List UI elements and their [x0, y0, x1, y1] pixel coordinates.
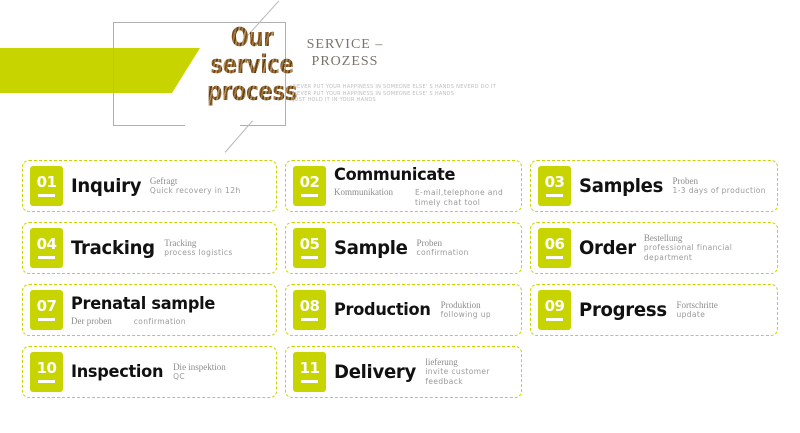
step-german-label: lieferung: [425, 357, 503, 367]
step-german-label: Kommunikation: [334, 187, 393, 197]
badge-underline: [546, 318, 563, 321]
step-english-label: confirmation: [134, 317, 186, 327]
process-step-grid: 01 Inquiry Gefragt Quick recovery in 12h…: [0, 160, 800, 408]
step-card-10[interactable]: 10 Inspection Die inspektion QC: [22, 346, 277, 398]
step-german-label: Tracking: [164, 238, 233, 248]
step-card-01[interactable]: 01 Inquiry Gefragt Quick recovery in 12h: [22, 160, 277, 212]
step-body: Communicate Kommunikation E-mail,telepho…: [326, 165, 521, 208]
badge-underline: [301, 256, 318, 259]
step-number: 02: [300, 175, 320, 190]
step-description: Der proben confirmation: [71, 316, 186, 327]
step-badge-05: 05: [293, 228, 326, 268]
step-description: Gefragt Quick recovery in 12h: [150, 176, 241, 196]
step-body: Progress Fortschritte update: [571, 300, 777, 321]
step-german-label: Fortschritte: [676, 300, 718, 310]
step-row-4: 10 Inspection Die inspektion QC 11 Deliv…: [0, 346, 800, 408]
step-german-label: Bestellung: [644, 233, 756, 243]
step-german-label: Proben: [673, 176, 766, 186]
badge-underline: [546, 256, 563, 259]
step-german-label: Gefragt: [150, 176, 241, 186]
step-badge-02: 02: [293, 166, 326, 206]
step-title: Sample: [334, 238, 408, 259]
step-english-label: professional financial department: [644, 243, 756, 263]
frame-gap-mask: [185, 120, 240, 128]
step-english-label: process logistics: [164, 248, 233, 258]
step-title: Tracking: [71, 238, 155, 259]
step-number: 05: [300, 237, 320, 252]
step-row-1: 01 Inquiry Gefragt Quick recovery in 12h…: [0, 160, 800, 222]
step-title: Communicate: [334, 165, 455, 186]
step-number: 03: [545, 175, 565, 190]
badge-underline: [546, 194, 563, 197]
step-badge-04: 04: [30, 228, 63, 268]
step-number: 09: [545, 299, 565, 314]
tagline-line-1: NEVER PUT YOUR HAPPINESS IN SOMEONE ELSE…: [293, 84, 496, 91]
step-body: Samples Proben 1-3 days of production: [571, 176, 777, 197]
step-badge-09: 09: [538, 290, 571, 330]
page-title-line-3: process: [207, 79, 297, 106]
step-number: 11: [300, 361, 320, 376]
step-title: Samples: [579, 176, 663, 197]
step-card-02[interactable]: 02 Communicate Kommunikation E-mail,tele…: [285, 160, 522, 212]
step-body: Inquiry Gefragt Quick recovery in 12h: [63, 176, 276, 197]
step-title: Production: [334, 300, 431, 321]
step-german-label: Produktion: [441, 300, 491, 310]
step-body: Production Produktion following up: [326, 300, 521, 321]
step-body: Inspection Die inspektion QC: [63, 362, 276, 383]
step-english-label: Quick recovery in 12h: [150, 186, 241, 196]
step-english-label: update: [676, 310, 718, 320]
badge-underline: [38, 380, 55, 383]
step-body: Delivery lieferung invite customer feedb…: [326, 357, 521, 387]
step-card-06[interactable]: 06 Order Bestellung professional financi…: [530, 222, 778, 274]
step-description: Produktion following up: [441, 300, 491, 320]
step-english-label: confirmation: [417, 248, 469, 258]
step-badge-08: 08: [293, 290, 326, 330]
step-card-05[interactable]: 05 Sample Proben confirmation: [285, 222, 522, 274]
step-english-label: E-mail,telephone and timely chat tool: [415, 188, 517, 208]
page-header: Our service process SERVICE – PROZESS NE…: [0, 0, 800, 150]
tagline-block: NEVER PUT YOUR HAPPINESS IN SOMEONE ELSE…: [293, 84, 496, 104]
step-german-label: Der proben: [71, 316, 112, 326]
step-number: 06: [545, 237, 565, 252]
step-description: Fortschritte update: [676, 300, 718, 320]
step-title: Order: [579, 238, 636, 259]
badge-underline: [301, 318, 318, 321]
step-card-04[interactable]: 04 Tracking Tracking process logistics: [22, 222, 277, 274]
badge-underline: [38, 318, 55, 321]
step-description: Die inspektion QC: [173, 362, 226, 382]
step-number: 07: [37, 299, 57, 314]
step-description: Tracking process logistics: [164, 238, 233, 258]
step-body: Tracking Tracking process logistics: [63, 238, 276, 259]
step-german-label: Die inspektion: [173, 362, 226, 372]
step-badge-07: 07: [30, 290, 63, 330]
step-title: Inquiry: [71, 176, 141, 197]
step-body: Prenatal sample Der proben confirmation: [63, 294, 276, 327]
step-row-2: 04 Tracking Tracking process logistics 0…: [0, 222, 800, 284]
step-card-03[interactable]: 03 Samples Proben 1-3 days of production: [530, 160, 778, 212]
step-badge-11: 11: [293, 352, 326, 392]
page-title-line-2: service: [207, 52, 297, 79]
step-badge-10: 10: [30, 352, 63, 392]
step-title: Delivery: [334, 362, 416, 383]
step-german-label: Proben: [417, 238, 469, 248]
step-number: 08: [300, 299, 320, 314]
step-badge-03: 03: [538, 166, 571, 206]
page-title: Our service process: [207, 25, 297, 106]
step-row-3: 07 Prenatal sample Der proben confirmati…: [0, 284, 800, 346]
step-description: Bestellung professional financial depart…: [644, 233, 756, 263]
step-description: Proben confirmation: [417, 238, 469, 258]
step-number: 04: [37, 237, 57, 252]
step-description: Proben 1-3 days of production: [673, 176, 766, 196]
step-body: Sample Proben confirmation: [326, 238, 521, 259]
page-subtitle: SERVICE – PROZESS: [290, 36, 400, 70]
step-title: Prenatal sample: [71, 294, 215, 315]
step-card-07[interactable]: 07 Prenatal sample Der proben confirmati…: [22, 284, 277, 336]
step-badge-01: 01: [30, 166, 63, 206]
badge-underline: [38, 194, 55, 197]
tagline-line-3: JUST HOLD IT IN YOUR HANDS: [293, 97, 496, 104]
step-english-label: QC: [173, 372, 226, 382]
page-title-line-1: Our: [207, 25, 297, 52]
step-card-09[interactable]: 09 Progress Fortschritte update: [530, 284, 778, 336]
step-description: lieferung invite customer feedback: [425, 357, 503, 387]
step-number: 10: [37, 361, 57, 376]
step-title: Progress: [579, 300, 667, 321]
badge-underline: [301, 380, 318, 383]
step-badge-06: 06: [538, 228, 571, 268]
step-title: Inspection: [71, 362, 163, 383]
step-english-label: following up: [441, 310, 491, 320]
badge-underline: [38, 256, 55, 259]
step-description: Kommunikation E-mail,telephone and timel…: [334, 187, 517, 208]
step-body: Order Bestellung professional financial …: [571, 233, 777, 263]
step-english-label: 1-3 days of production: [673, 186, 766, 196]
step-card-11[interactable]: 11 Delivery lieferung invite customer fe…: [285, 346, 522, 398]
step-card-08[interactable]: 08 Production Produktion following up: [285, 284, 522, 336]
step-english-label: invite customer feedback: [425, 367, 503, 387]
badge-underline: [301, 194, 318, 197]
step-number: 01: [37, 175, 57, 190]
